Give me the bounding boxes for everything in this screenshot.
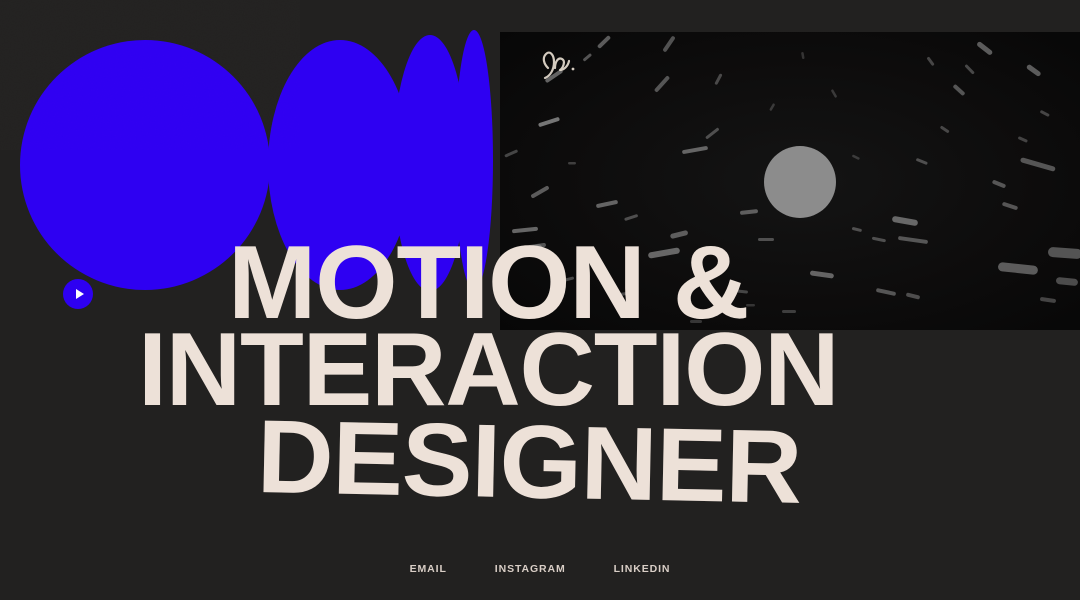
hero-stage: MOTION & INTERACTION DESIGNER EMAIL INST… (0, 0, 1080, 600)
shape-ellipse-wide (268, 40, 412, 290)
headline-line-2: INTERACTION (138, 327, 838, 414)
showreel-video-panel[interactable] (500, 32, 1080, 330)
play-showreel-button[interactable] (63, 279, 93, 309)
footer-link-instagram[interactable]: INSTAGRAM (493, 559, 568, 579)
shape-circle-large (20, 40, 270, 290)
footer-link-linkedin[interactable]: LINKEDIN (612, 559, 673, 579)
sphere-object (764, 146, 836, 218)
footer-link-email[interactable]: EMAIL (408, 559, 449, 579)
play-triangle-icon (76, 289, 84, 299)
footer-links: EMAIL INSTAGRAM LINKEDIN (0, 538, 1080, 600)
headline-line-3: DESIGNER (256, 414, 802, 512)
shape-ellipse-narrow (455, 30, 493, 290)
